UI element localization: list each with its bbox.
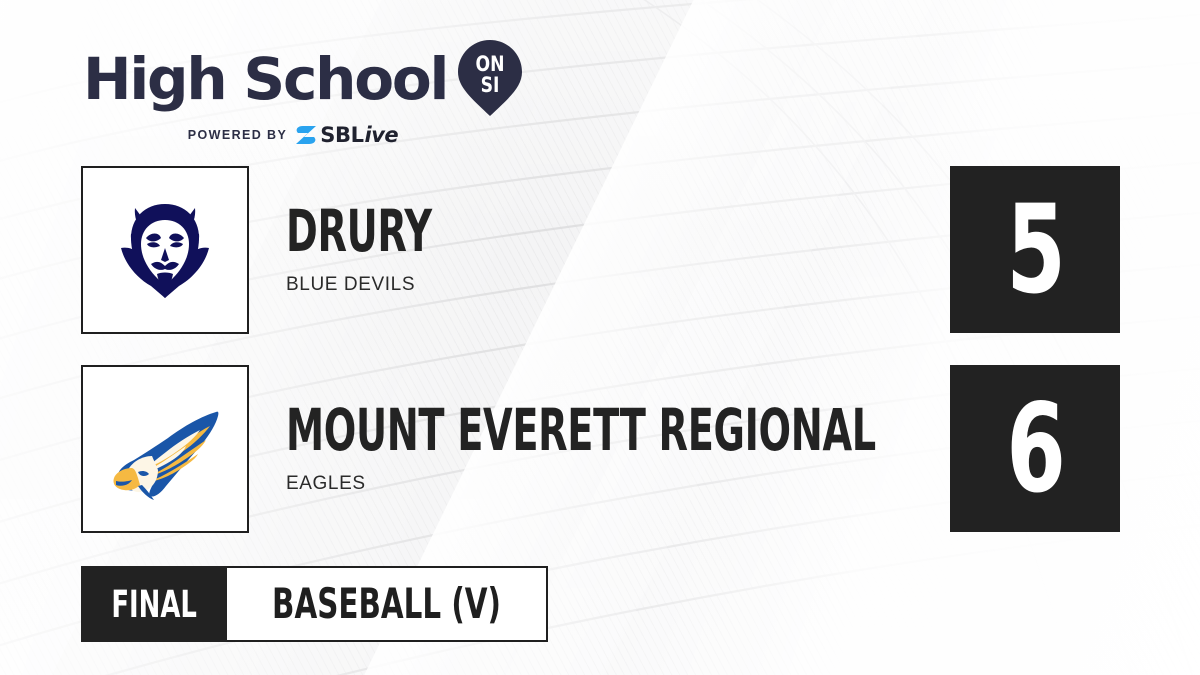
sblive-logo: SBL ive [294, 124, 398, 146]
scoreboard-graphic: High School ON SI POWERED BY SBL ive [0, 0, 1200, 675]
sblive-wordmark: SBL [320, 125, 363, 146]
sblive-s-icon [294, 124, 318, 146]
team-score-box: 6 [950, 365, 1120, 532]
powered-by-label: POWERED BY [188, 128, 287, 142]
brand-lockup: High School ON SI POWERED BY SBL ive [83, 40, 523, 146]
sblive-wordmark-italic: ive [365, 125, 399, 146]
powered-by-row: POWERED BY SBL ive [83, 124, 503, 146]
on-si-pin-icon: ON SI [457, 38, 523, 118]
game-state-label: FINAL [111, 586, 197, 623]
team-school-name: DRURY [286, 204, 432, 260]
sport-panel: BASEBALL (V) [227, 566, 548, 642]
team-score-box: 5 [950, 166, 1120, 333]
brand-wordmark: High School [83, 50, 447, 108]
team-logo-box [81, 365, 249, 533]
team-school-name: MOUNT EVERETT REGIONAL [286, 403, 876, 459]
blue-devil-head-icon [101, 186, 229, 314]
team-mascot-name: BLUE DEVILS [286, 274, 507, 296]
status-bar: FINAL BASEBALL (V) [81, 566, 548, 642]
brand-wordmark-row: High School ON SI [83, 40, 523, 118]
team-logo-box [81, 166, 249, 334]
sport-label: BASEBALL (V) [272, 583, 501, 625]
eagle-head-icon [98, 382, 232, 516]
pin-label-si: SI [481, 72, 500, 97]
team-score: 5 [1006, 189, 1064, 311]
team-score: 6 [1006, 388, 1064, 510]
team-text-block: DRURY BLUE DEVILS [286, 166, 507, 334]
game-state-badge: FINAL [81, 566, 227, 642]
